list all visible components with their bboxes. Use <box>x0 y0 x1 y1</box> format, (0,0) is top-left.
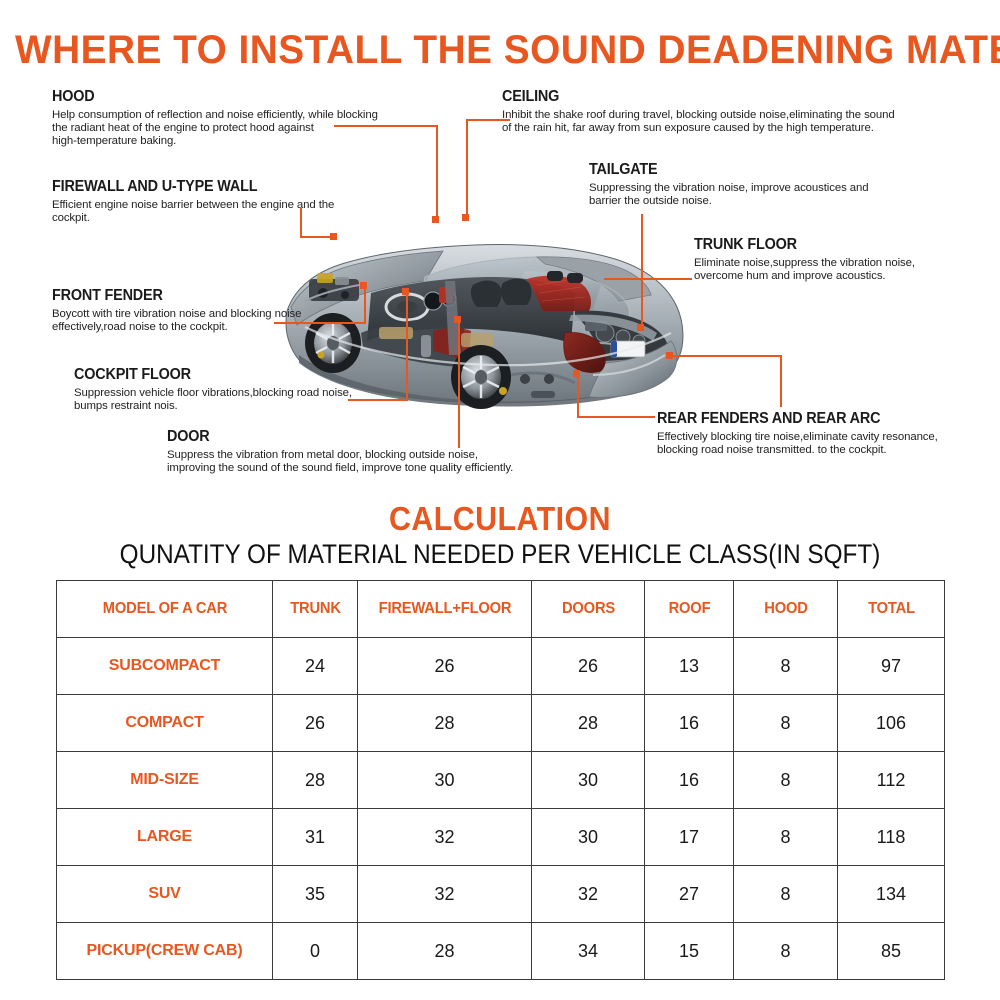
connector-tailgate-marker <box>637 324 644 331</box>
cell-doors: 26 <box>532 638 645 695</box>
cell-roof: 13 <box>645 638 734 695</box>
callout-firewall-body: Efficient engine noise barrier between t… <box>52 199 372 225</box>
table-header-row: MODEL OF A CAR TRUNK FIREWALL+FLOOR DOOR… <box>57 581 945 638</box>
cell-hood: 8 <box>734 695 838 752</box>
connector-rearfender-marker <box>666 352 673 359</box>
connector-hood-v <box>436 125 438 219</box>
cell-model: PICKUP(CREW CAB) <box>57 923 273 980</box>
callout-ceiling: CEILING Inhibit the shake roof during tr… <box>502 88 932 135</box>
cell-roof: 17 <box>645 809 734 866</box>
cell-roof: 16 <box>645 695 734 752</box>
callout-front-fender-body: Boycott with tire vibration noise and bl… <box>52 308 342 334</box>
calculation-table: MODEL OF A CAR TRUNK FIREWALL+FLOOR DOOR… <box>56 580 945 980</box>
callout-hood-title: HOOD <box>52 88 359 106</box>
callout-tailgate: TAILGATE Suppressing the vibration noise… <box>589 161 919 208</box>
cell-total: 112 <box>838 752 945 809</box>
callout-door: DOOR Suppress the vibration from metal d… <box>167 428 547 475</box>
connector-frontfender-marker <box>360 282 367 289</box>
cell-hood: 8 <box>734 809 838 866</box>
connector-cockpitfloor-v <box>406 293 408 401</box>
calculation-heading: CALCULATION <box>40 500 960 538</box>
connector-reararc-marker <box>573 370 580 377</box>
cell-firewall-floor: 30 <box>358 752 532 809</box>
col-header-hood: HOOD <box>736 581 835 638</box>
callout-hood: HOOD Help consumption of reflection and … <box>52 88 382 149</box>
callout-door-title: DOOR <box>167 428 520 446</box>
connector-hood-marker <box>432 216 439 223</box>
callout-hood-body: Help consumption of reflection and noise… <box>52 109 382 149</box>
cell-doors: 30 <box>532 809 645 866</box>
callout-trunk-floor-body: Eliminate noise,suppress the vibration n… <box>694 257 984 283</box>
col-header-doors: DOORS <box>534 581 641 638</box>
callout-ceiling-body: Inhibit the shake roof during travel, bl… <box>502 109 932 135</box>
callout-trunk-floor: TRUNK FLOOR Eliminate noise,suppress the… <box>694 236 984 283</box>
callout-firewall: FIREWALL AND U-TYPE WALL Efficient engin… <box>52 178 372 225</box>
car-rear-wheel <box>451 345 511 409</box>
cell-total: 97 <box>838 638 945 695</box>
cell-model: SUBCOMPACT <box>57 638 273 695</box>
connector-door-marker <box>454 316 461 323</box>
cell-trunk: 0 <box>273 923 358 980</box>
callout-cockpit-floor-body: Suppression vehicle floor vibrations,blo… <box>74 387 374 413</box>
cell-trunk: 31 <box>273 809 358 866</box>
cell-doors: 34 <box>532 923 645 980</box>
cell-model: LARGE <box>57 809 273 866</box>
connector-trunkfloor-h <box>604 278 692 280</box>
callout-front-fender-title: FRONT FENDER <box>52 287 322 305</box>
table-row: PICKUP(CREW CAB) 0 28 34 15 8 85 <box>57 923 945 980</box>
table-row: SUV 35 32 32 27 8 134 <box>57 866 945 923</box>
cell-trunk: 35 <box>273 866 358 923</box>
calculation-subheading: QUNATITY OF MATERIAL NEEDED PER VEHICLE … <box>50 539 950 570</box>
cell-firewall-floor: 28 <box>358 923 532 980</box>
callout-cockpit-floor: COCKPIT FLOOR Suppression vehicle floor … <box>74 366 374 413</box>
cell-roof: 16 <box>645 752 734 809</box>
callout-tailgate-title: TAILGATE <box>589 161 896 179</box>
table-row: COMPACT 26 28 28 16 8 106 <box>57 695 945 752</box>
callout-rear-fenders-body: Effectively blocking tire noise,eliminat… <box>657 431 977 457</box>
connector-firewall-h <box>300 236 334 238</box>
cell-hood: 8 <box>734 752 838 809</box>
cell-firewall-floor: 26 <box>358 638 532 695</box>
connector-cockpitfloor-marker <box>402 288 409 295</box>
callout-ceiling-title: CEILING <box>502 88 902 106</box>
cell-hood: 8 <box>734 638 838 695</box>
cell-doors: 28 <box>532 695 645 752</box>
connector-ceiling-v <box>466 119 468 217</box>
cell-roof: 15 <box>645 923 734 980</box>
connector-ceiling-marker <box>462 214 469 221</box>
callout-tailgate-body: Suppressing the vibration noise, improve… <box>589 182 919 208</box>
page-title: WHERE TO INSTALL THE SOUND DEADENING MAT… <box>15 28 985 73</box>
connector-reararc-h <box>577 416 655 418</box>
cell-hood: 8 <box>734 923 838 980</box>
cell-firewall-floor: 28 <box>358 695 532 752</box>
col-header-roof: ROOF <box>647 581 732 638</box>
connector-reararc-v <box>577 374 579 418</box>
connector-firewall-marker <box>330 233 337 240</box>
cell-trunk: 28 <box>273 752 358 809</box>
cell-doors: 32 <box>532 866 645 923</box>
connector-rearfender-h <box>672 355 782 357</box>
connector-tailgate-v <box>641 214 643 326</box>
connector-frontfender-v <box>364 288 366 324</box>
callout-trunk-floor-title: TRUNK FLOOR <box>694 236 964 254</box>
table-row: SUBCOMPACT 24 26 26 13 8 97 <box>57 638 945 695</box>
col-header-model: MODEL OF A CAR <box>62 581 267 638</box>
cell-model: MID-SIZE <box>57 752 273 809</box>
callout-rear-fenders: REAR FENDERS AND REAR ARC Effectively bl… <box>657 410 977 457</box>
table-row: MID-SIZE 28 30 30 16 8 112 <box>57 752 945 809</box>
callout-cockpit-floor-title: COCKPIT FLOOR <box>74 366 353 384</box>
cell-model: COMPACT <box>57 695 273 752</box>
cell-firewall-floor: 32 <box>358 866 532 923</box>
cell-doors: 30 <box>532 752 645 809</box>
callout-front-fender: FRONT FENDER Boycott with tire vibration… <box>52 287 342 334</box>
col-header-firewall-floor: FIREWALL+FLOOR <box>362 581 527 638</box>
cell-trunk: 24 <box>273 638 358 695</box>
connector-rearfender-v <box>780 355 782 407</box>
col-header-trunk: TRUNK <box>275 581 356 638</box>
table-row: LARGE 31 32 30 17 8 118 <box>57 809 945 866</box>
cell-roof: 27 <box>645 866 734 923</box>
callout-rear-fenders-title: REAR FENDERS AND REAR ARC <box>657 410 955 428</box>
cell-hood: 8 <box>734 866 838 923</box>
callout-firewall-title: FIREWALL AND U-TYPE WALL <box>52 178 350 196</box>
callout-door-body: Suppress the vibration from metal door, … <box>167 449 547 475</box>
cell-trunk: 26 <box>273 695 358 752</box>
cell-firewall-floor: 32 <box>358 809 532 866</box>
calculation-table-wrapper: MODEL OF A CAR TRUNK FIREWALL+FLOOR DOOR… <box>56 580 944 980</box>
col-header-total: TOTAL <box>840 581 942 638</box>
cell-total: 85 <box>838 923 945 980</box>
cell-total: 134 <box>838 866 945 923</box>
cell-total: 106 <box>838 695 945 752</box>
cell-total: 118 <box>838 809 945 866</box>
cell-model: SUV <box>57 866 273 923</box>
